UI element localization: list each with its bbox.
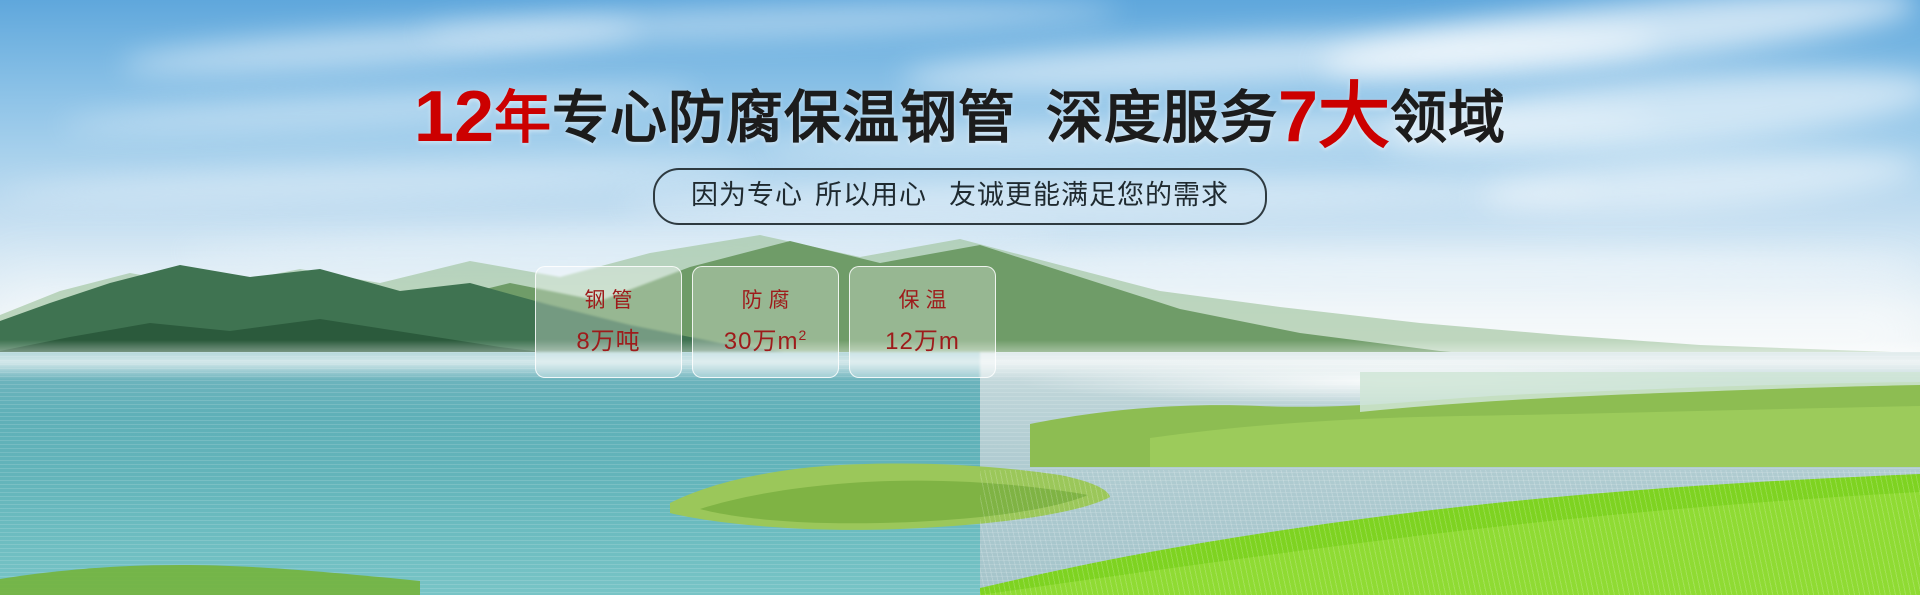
stat-card-insulation[interactable]: 保温 12万m [849,266,996,378]
grass-blade-texture [980,470,1920,595]
stat-caption: 防腐 [736,288,796,314]
left-shore-grass [0,545,420,595]
stat-caption: 钢管 [579,288,639,314]
headline-segment2: 深度服务 [1046,86,1278,150]
headline-highlight: 7大 [1278,77,1390,157]
subtitle-part3: 友诚更能满足您的需求 [949,180,1229,210]
headline-years-unit: 年 [494,86,552,150]
page-title: 12年专心防腐保温钢管深度服务7大领域 [0,86,1920,149]
subtitle-pill: 因为专心所以用心友诚更能满足您的需求 [653,168,1267,225]
headline-years-number: 12 [414,77,494,157]
stat-value-text: 12万m [885,328,960,355]
stat-card-steel-pipe[interactable]: 钢管 8万吨 [535,266,682,378]
subtitle-part2: 所以用心 [815,180,927,210]
stat-value-exponent: 2 [798,327,807,343]
subtitle-part1: 因为专心 [691,180,803,210]
promo-banner: 12年专心防腐保温钢管深度服务7大领域 因为专心所以用心友诚更能满足您的需求 钢… [0,0,1920,595]
stat-value: 8万吨 [576,328,640,356]
background-marsh [1030,372,1920,467]
stat-value-text: 30万m [724,328,799,355]
headline-tail: 领域 [1390,86,1506,150]
stat-card-anticorrosion[interactable]: 防腐 30万m2 [692,266,839,378]
stat-value: 12万m [885,328,960,356]
stat-value: 30万m2 [724,328,807,356]
stat-caption: 保温 [893,288,953,314]
stat-value-text: 8万吨 [576,328,640,355]
stat-card-group: 钢管 8万吨 防腐 30万m2 保温 12万m [535,266,996,378]
headline-middle: 专心防腐保温钢管 [552,86,1016,150]
